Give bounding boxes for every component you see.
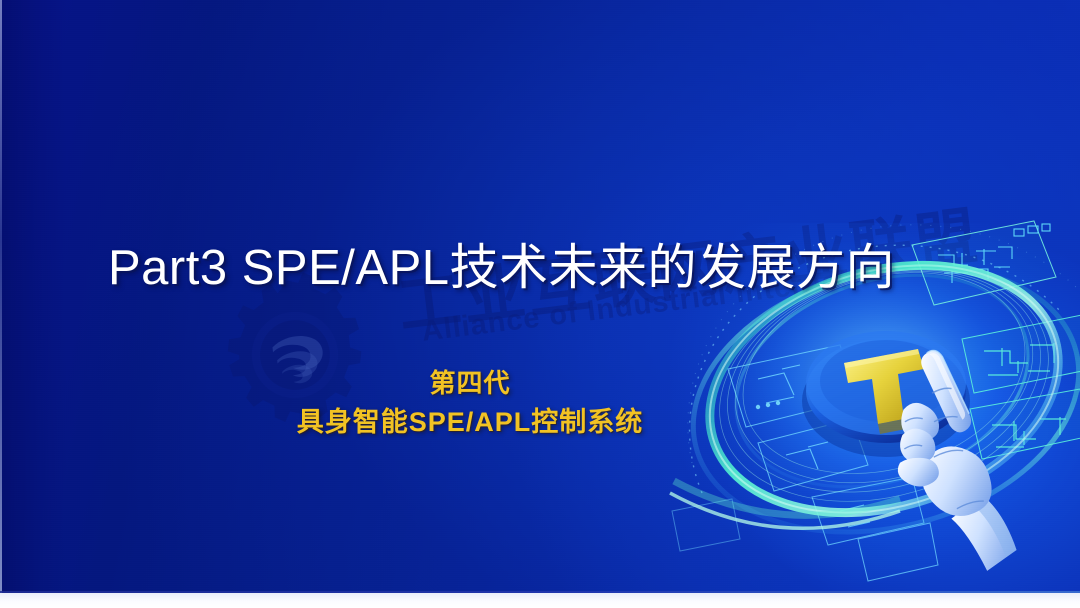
subtitle-line-1: 第四代 <box>0 368 940 400</box>
slide-background: 工业互联网产业联盟 Alliance of Industrial Interne… <box>0 0 1080 593</box>
left-edge-hairline <box>0 0 2 593</box>
page-title: Part3 SPE/APL技术未来的发展方向 <box>108 228 895 299</box>
circuit-panel-right <box>962 315 1080 459</box>
left-gradient-band <box>0 0 66 593</box>
circuit-panel-bottom <box>672 477 938 581</box>
circuit-panel-topright <box>912 221 1056 305</box>
subtitle-block: 第四代 具身智能SPE/APL控制系统 <box>0 368 940 439</box>
presentation-slide: 工业互联网产业联盟 Alliance of Industrial Interne… <box>0 0 1080 608</box>
subtitle-line-2: 具身智能SPE/APL控制系统 <box>0 406 940 439</box>
slide-bottom-strip <box>0 593 1080 608</box>
